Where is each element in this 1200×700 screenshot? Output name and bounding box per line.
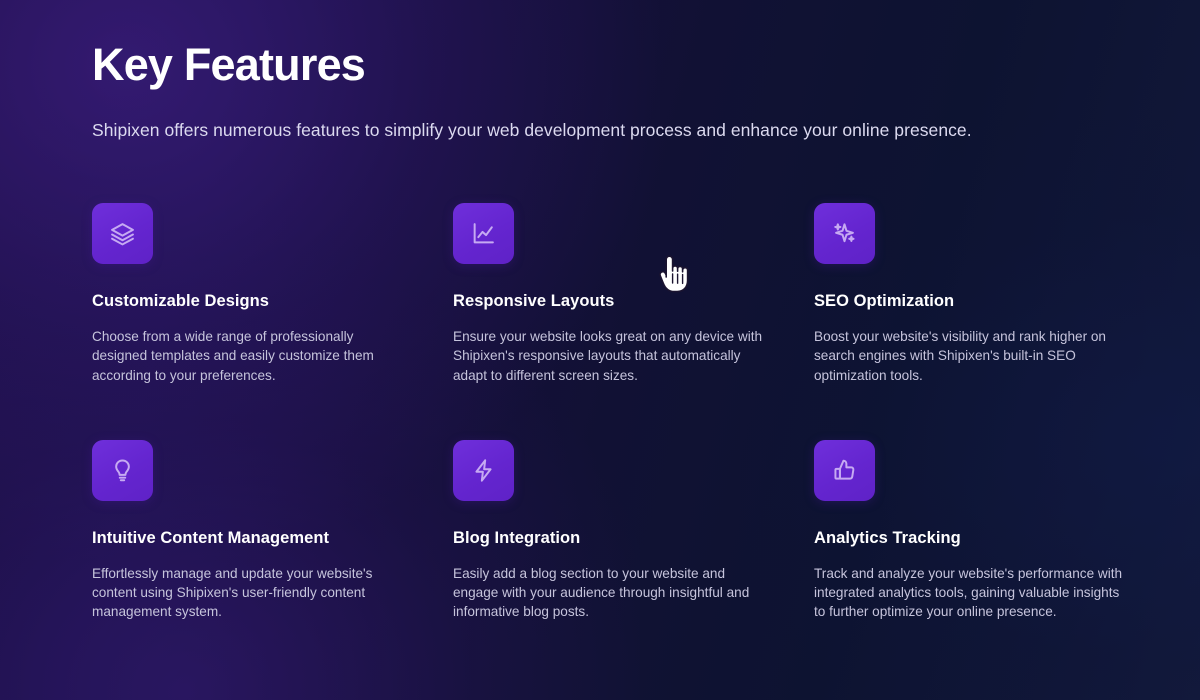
feature-card-intuitive-content-management[interactable]: Intuitive Content Management Effortlessl…	[92, 440, 423, 622]
page-title: Key Features	[92, 36, 365, 94]
feature-card-seo-optimization[interactable]: SEO Optimization Boost your website's vi…	[814, 203, 1145, 385]
sparkles-icon	[832, 221, 857, 246]
key-features-section: Key Features Shipixen offers numerous fe…	[0, 0, 1200, 700]
feature-icon-tile	[92, 203, 153, 264]
feature-icon-tile	[814, 440, 875, 501]
feature-card-blog-integration[interactable]: Blog Integration Easily add a blog secti…	[453, 440, 784, 622]
feature-icon-tile	[453, 440, 514, 501]
feature-description: Boost your website's visibility and rank…	[814, 327, 1126, 385]
feature-title: Analytics Tracking	[814, 527, 1145, 549]
layers-icon	[110, 221, 135, 246]
feature-description: Track and analyze your website's perform…	[814, 564, 1134, 622]
line-chart-icon	[471, 221, 496, 246]
feature-title: Blog Integration	[453, 527, 784, 549]
feature-description: Choose from a wide range of professional…	[92, 327, 404, 385]
feature-grid: Customizable Designs Choose from a wide …	[92, 203, 1116, 622]
lightning-bolt-icon	[471, 458, 496, 483]
feature-card-responsive-layouts[interactable]: Responsive Layouts Ensure your website l…	[453, 203, 784, 385]
page-subtitle: Shipixen offers numerous features to sim…	[92, 117, 972, 143]
feature-description: Easily add a blog section to your websit…	[453, 564, 773, 622]
feature-title: Responsive Layouts	[453, 290, 784, 312]
feature-description: Ensure your website looks great on any d…	[453, 327, 765, 385]
feature-icon-tile	[814, 203, 875, 264]
feature-title: SEO Optimization	[814, 290, 1145, 312]
feature-card-customizable-designs[interactable]: Customizable Designs Choose from a wide …	[92, 203, 423, 385]
thumbs-up-icon	[832, 458, 857, 483]
lightbulb-icon	[110, 458, 135, 483]
feature-title: Intuitive Content Management	[92, 527, 423, 549]
feature-description: Effortlessly manage and update your webs…	[92, 564, 412, 622]
feature-icon-tile	[92, 440, 153, 501]
feature-icon-tile	[453, 203, 514, 264]
feature-card-analytics-tracking[interactable]: Analytics Tracking Track and analyze you…	[814, 440, 1145, 622]
feature-title: Customizable Designs	[92, 290, 423, 312]
